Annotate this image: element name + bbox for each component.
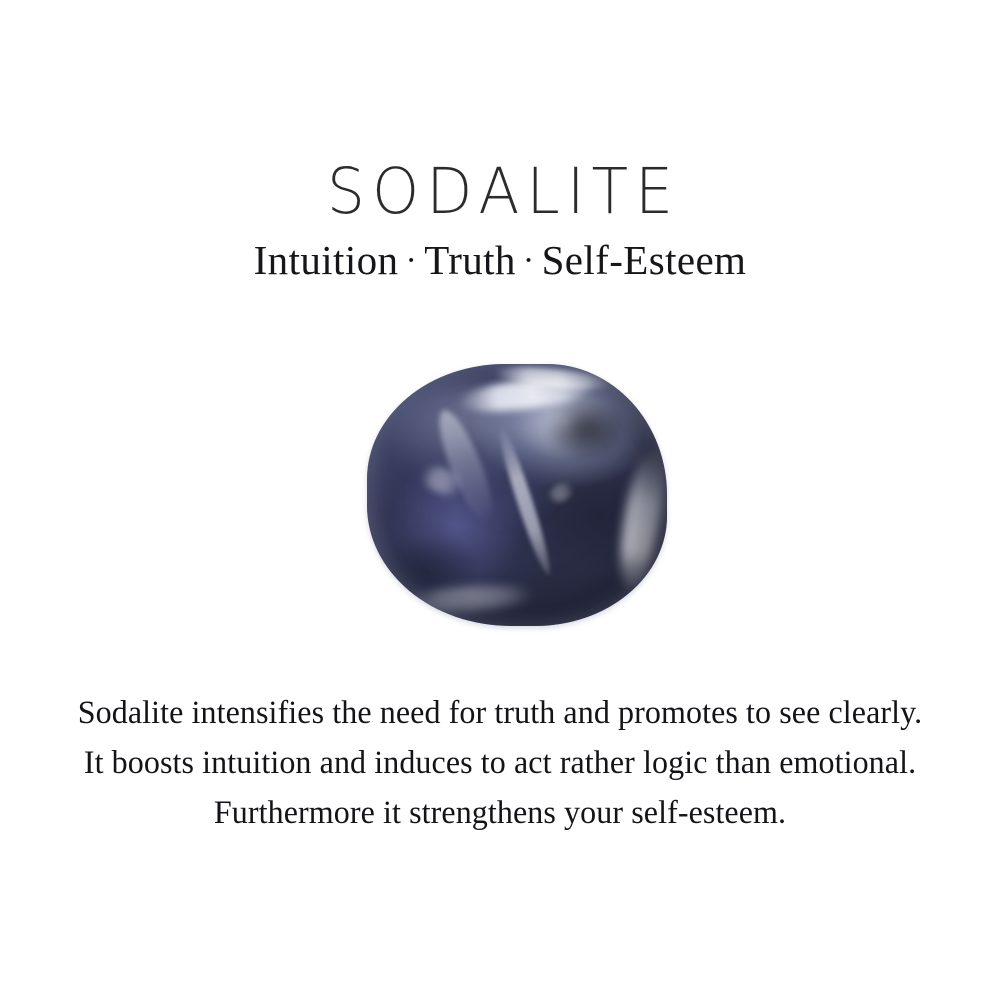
subtitle-keyword-intuition: Intuition [254, 237, 399, 283]
subtitle-separator-2: · [516, 242, 542, 279]
page-title: SODALITE [0, 158, 1000, 226]
stone-image-stage [345, 352, 685, 642]
subtitle: Intuition·Truth·Self-Esteem [0, 236, 1000, 288]
sodalite-stone-image [367, 364, 667, 626]
description-text: Sodalite intensifies the need for truth … [75, 688, 925, 838]
stone-polish-highlight [391, 380, 577, 485]
subtitle-separator-1: · [398, 242, 424, 279]
stone-body [367, 364, 667, 626]
subtitle-keyword-truth: Truth [424, 237, 516, 283]
description-block: Sodalite intensifies the need for truth … [62, 688, 938, 838]
sodalite-info-card: SODALITE Intuition·Truth·Self-Esteem [0, 0, 1000, 1000]
subtitle-keyword-self-esteem: Self-Esteem [542, 237, 747, 283]
title-block: SODALITE Intuition·Truth·Self-Esteem [0, 158, 1000, 288]
stone-vein-right-edge [613, 441, 667, 592]
